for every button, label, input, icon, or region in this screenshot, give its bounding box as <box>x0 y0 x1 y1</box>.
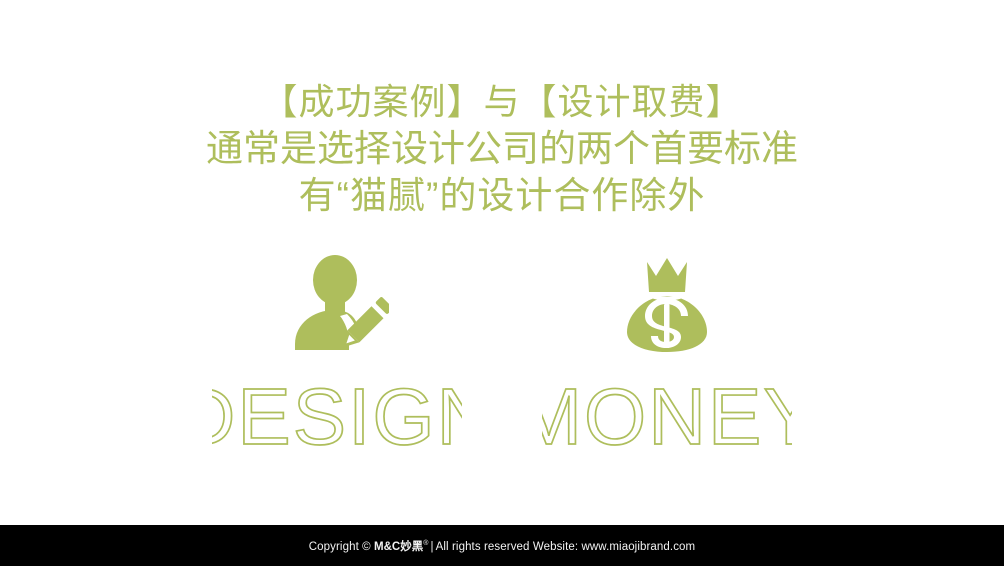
slide-canvas: 【成功案例】与【设计取费】 通常是选择设计公司的两个首要标准 有“猫腻”的设计合… <box>0 0 1004 566</box>
concept-money: MONEY <box>502 252 832 460</box>
concept-design: DESIGN <box>172 252 502 460</box>
website-url: www.miaojibrand.com <box>581 541 695 553</box>
money-bag-dollar-icon <box>615 252 719 361</box>
registered-trademark-icon: ® <box>423 540 428 547</box>
headline-line-2: 通常是选择设计公司的两个首要标准 <box>0 125 1004 172</box>
concept-label-design: DESIGN <box>212 378 462 460</box>
website-label: Website: <box>533 541 578 553</box>
money-label-text: MONEY <box>542 378 792 460</box>
concept-row: DESIGN <box>0 252 1004 460</box>
design-icon-wrap <box>285 252 389 360</box>
rights-text: All rights reserved <box>436 541 530 553</box>
headline-line-3: 有“猫腻”的设计合作除外 <box>0 172 1004 219</box>
concept-label-money: MONEY <box>542 378 792 460</box>
design-label-text: DESIGN <box>212 378 462 460</box>
headline-block: 【成功案例】与【设计取费】 通常是选择设计公司的两个首要标准 有“猫腻”的设计合… <box>0 78 1004 219</box>
footer-copyright-text: Copyright © M&C妙黑®|All rights reserved W… <box>309 538 695 554</box>
brand-name: M&C妙黑 <box>374 541 423 553</box>
footer-bar: Copyright © M&C妙黑®|All rights reserved W… <box>0 525 1004 566</box>
designer-person-pencil-icon <box>285 252 389 361</box>
money-icon-wrap <box>615 252 719 360</box>
footer-separator: | <box>429 541 436 553</box>
copyright-word: Copyright <box>309 541 359 553</box>
copyright-symbol-icon: © <box>362 541 371 553</box>
headline-line-1: 【成功案例】与【设计取费】 <box>0 78 1004 125</box>
